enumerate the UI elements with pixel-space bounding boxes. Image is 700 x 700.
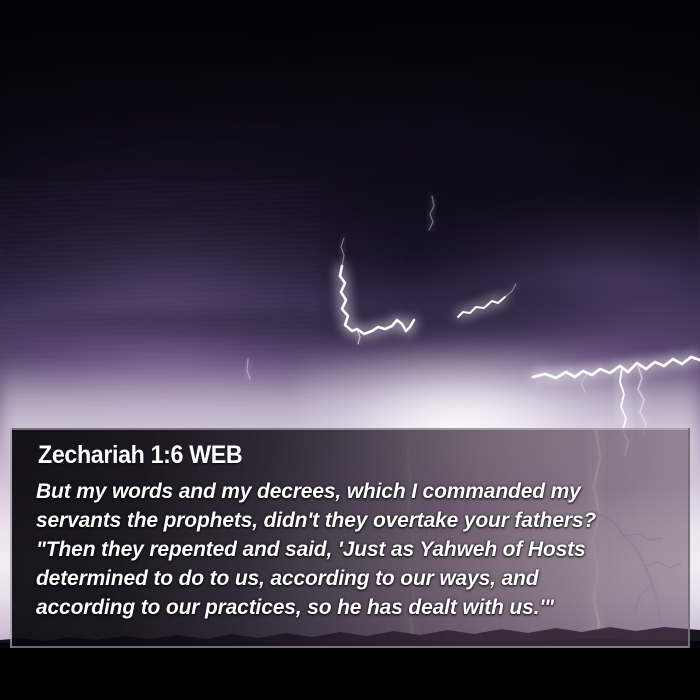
verse-image-canvas: Zechariah 1:6 WEB But my words and my de… xyxy=(0,0,700,700)
verse-line-1: But my words and my decrees, which I com… xyxy=(36,477,674,506)
verse-line-5: according to our practices, so he has de… xyxy=(36,593,674,622)
verse-text-panel: Zechariah 1:6 WEB But my words and my de… xyxy=(10,428,690,648)
lightning-filament-left xyxy=(247,359,250,379)
lightning-bolt-center xyxy=(340,238,414,344)
verse-line-4: determined to do to us, according to our… xyxy=(36,564,674,593)
verse-line-3: "Then they repented and said, 'Just as Y… xyxy=(36,535,674,564)
verse-panel-inner: Zechariah 1:6 WEB But my words and my de… xyxy=(12,430,688,622)
verse-body-text: But my words and my decrees, which I com… xyxy=(36,477,674,622)
lightning-bolt-small-right xyxy=(458,284,516,317)
verse-line-2: servants the prophets, didn't they overt… xyxy=(36,506,674,535)
lightning-filament-upper xyxy=(429,196,434,230)
bottom-black-band xyxy=(0,648,700,700)
verse-reference-heading: Zechariah 1:6 WEB xyxy=(38,443,629,468)
